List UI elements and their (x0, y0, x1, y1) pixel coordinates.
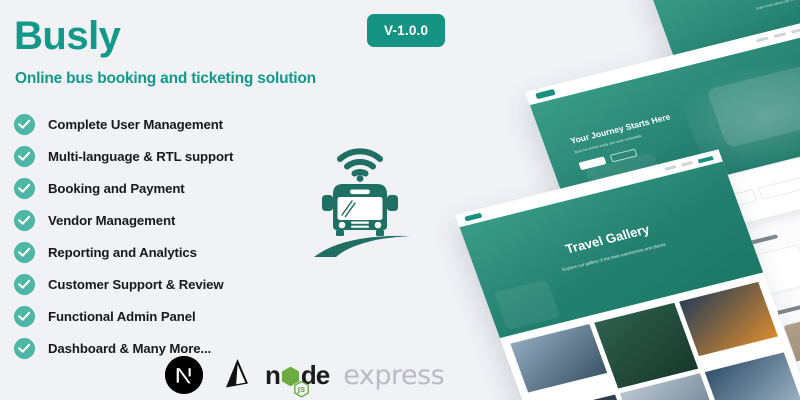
wifi-signal-arcs (340, 151, 380, 173)
list-item-label: Dashboard & Many More... (48, 341, 211, 356)
version-badge: V-1.0.0 (367, 14, 445, 47)
check-circle-icon (14, 178, 35, 199)
check-circle-icon (14, 306, 35, 327)
nextjs-logo (165, 356, 203, 394)
mock2-logo (535, 89, 556, 99)
bus-front (322, 184, 398, 236)
gallery-photo[interactable] (595, 303, 698, 389)
node-js-badge-icon: JS (294, 381, 309, 398)
curved-road (314, 236, 410, 257)
list-item-label: Reporting and Analytics (48, 245, 197, 260)
check-circle-icon (14, 338, 35, 359)
list-item-label: Functional Admin Panel (48, 309, 196, 324)
list-item-label: Vendor Management (48, 213, 175, 228)
promo-banner: About Us Learn more about our mission to… (0, 0, 800, 400)
list-item: Customer Support & Review (14, 268, 274, 300)
left-content-panel: Busly Online bus booking and ticketing s… (0, 0, 470, 400)
check-circle-icon (14, 210, 35, 231)
list-item: Multi-language & RTL support (14, 140, 274, 172)
feature-list: Complete User Management Multi-language … (14, 108, 274, 364)
check-circle-icon (14, 242, 35, 263)
list-item: Complete User Management (14, 108, 274, 140)
list-item-label: Customer Support & Review (48, 277, 224, 292)
list-item-label: Booking and Payment (48, 181, 185, 196)
list-item: Booking and Payment (14, 172, 274, 204)
list-item: Vendor Management (14, 204, 274, 236)
check-circle-icon (14, 146, 35, 167)
gallery-photo[interactable] (679, 282, 778, 356)
page-title: Busly (14, 16, 120, 56)
list-item: Functional Admin Panel (14, 300, 274, 332)
svg-text:JS: JS (297, 386, 306, 394)
check-circle-icon (14, 274, 35, 295)
nodejs-logo: n de JS (265, 356, 329, 394)
page-subtitle: Online bus booking and ticketing solutio… (15, 70, 316, 88)
list-item: Reporting and Analytics (14, 236, 274, 268)
list-item-label: Complete User Management (48, 117, 223, 132)
check-circle-icon (14, 114, 35, 135)
date-field[interactable] (758, 168, 800, 199)
express-logo: express (343, 362, 444, 389)
wifi-bus-on-road-icon (300, 132, 420, 257)
gallery-photo[interactable] (704, 352, 800, 400)
tech-stack-logos: n de JS express (165, 356, 444, 394)
prisma-logo (217, 356, 251, 394)
list-item-label: Multi-language & RTL support (48, 149, 233, 164)
gallery-photo[interactable] (510, 324, 607, 393)
